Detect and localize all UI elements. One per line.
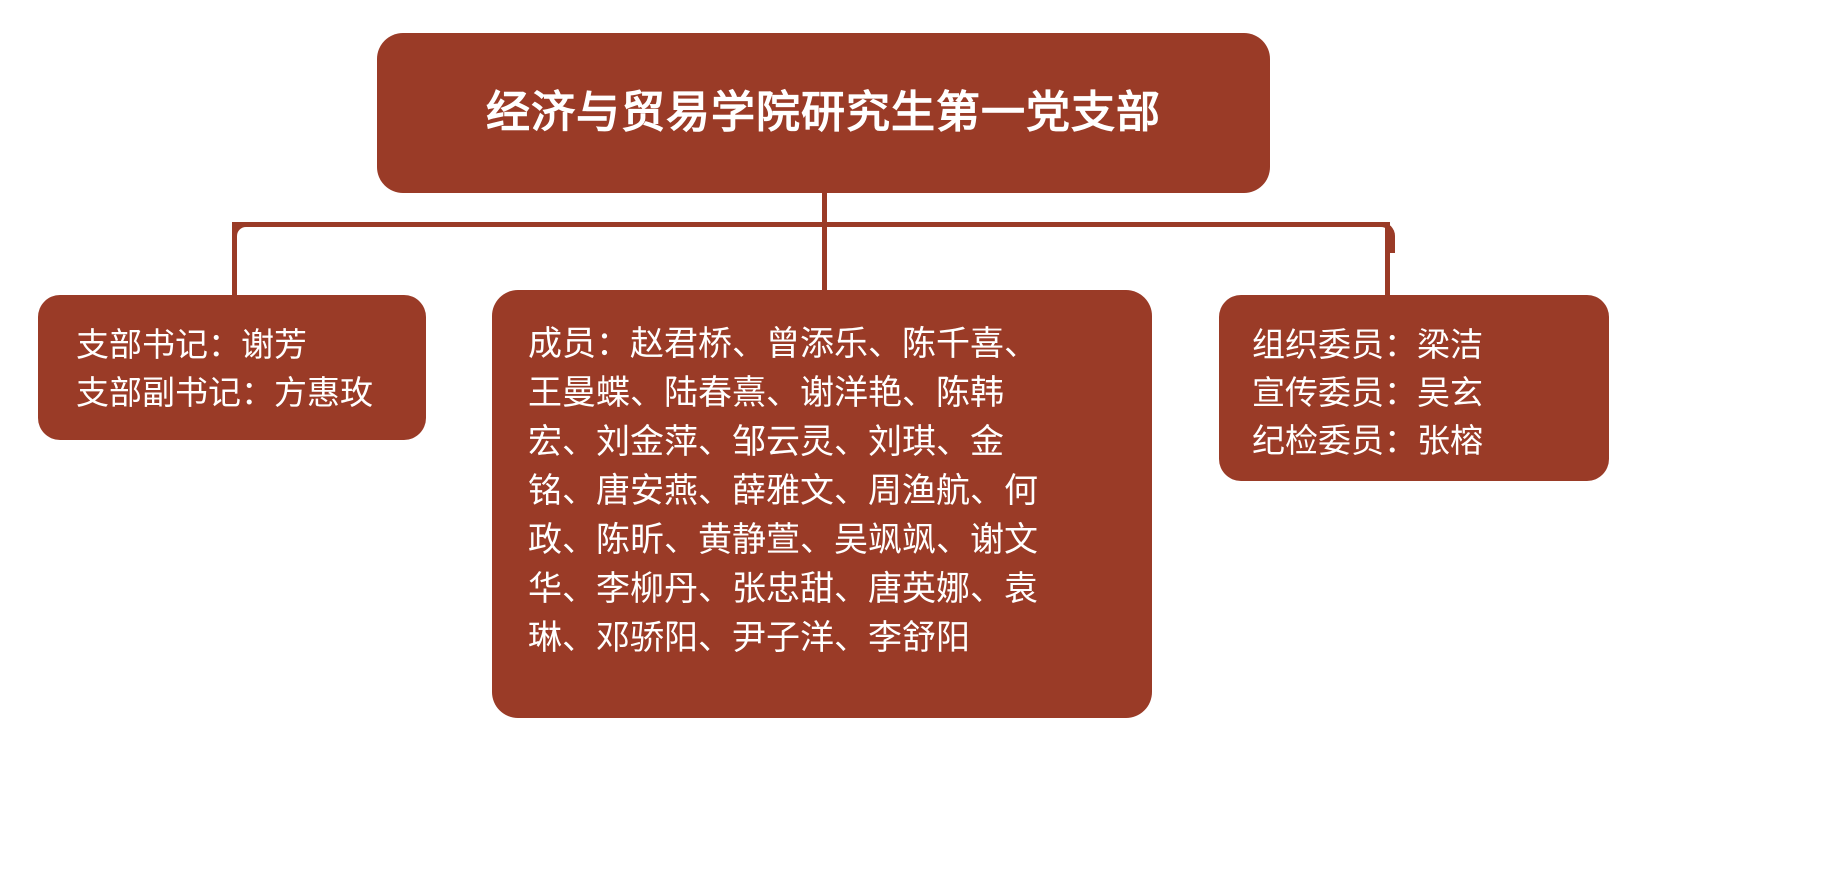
members-line-5: 政、陈昕、黄静萱、吴飒飒、谢文 [528,516,1118,565]
org-chart-canvas: 经济与贸易学院研究生第一党支部 支部书记：谢芳 支部副书记：方惠玫 成员：赵君桥… [0,0,1842,882]
connector-horizontal-bus [232,222,1390,227]
leader-line-secretary: 支部书记：谢芳 [76,321,426,369]
members-line-7: 琳、邓骄阳、尹子洋、李舒阳 [528,614,1118,663]
connector-corner-right [1364,222,1395,253]
committee-line-discipline: 纪检委员：张榕 [1252,417,1609,465]
committee-line-publicity: 宣传委员：吴玄 [1252,369,1609,417]
members-line-2: 王曼蝶、陆春熹、谢洋艳、陈韩 [528,369,1118,418]
connector-drop-center [822,222,827,300]
node-root-branch[interactable]: 经济与贸易学院研究生第一党支部 [377,33,1270,193]
leader-line-deputy-secretary: 支部副书记：方惠玫 [76,369,426,417]
members-line-6: 华、李柳丹、张忠甜、唐英娜、袁 [528,565,1118,614]
members-line-3: 宏、刘金萍、邹云灵、刘琪、金 [528,418,1118,467]
committee-line-organization: 组织委员：梁洁 [1252,321,1609,369]
root-title: 经济与贸易学院研究生第一党支部 [486,87,1161,140]
node-branch-leaders[interactable]: 支部书记：谢芳 支部副书记：方惠玫 [38,295,426,440]
connector-root-stem [822,193,827,224]
members-line-4: 铭、唐安燕、薛雅文、周渔航、何 [528,467,1118,516]
node-branch-members[interactable]: 成员：赵君桥、曾添乐、陈千喜、 王曼蝶、陆春熹、谢洋艳、陈韩 宏、刘金萍、邹云灵… [492,290,1152,718]
node-branch-committee[interactable]: 组织委员：梁洁 宣传委员：吴玄 纪检委员：张榕 [1219,295,1609,481]
members-line-1: 成员：赵君桥、曾添乐、陈千喜、 [528,320,1118,369]
connector-drop-right [1385,222,1390,300]
connector-drop-left [232,222,237,300]
